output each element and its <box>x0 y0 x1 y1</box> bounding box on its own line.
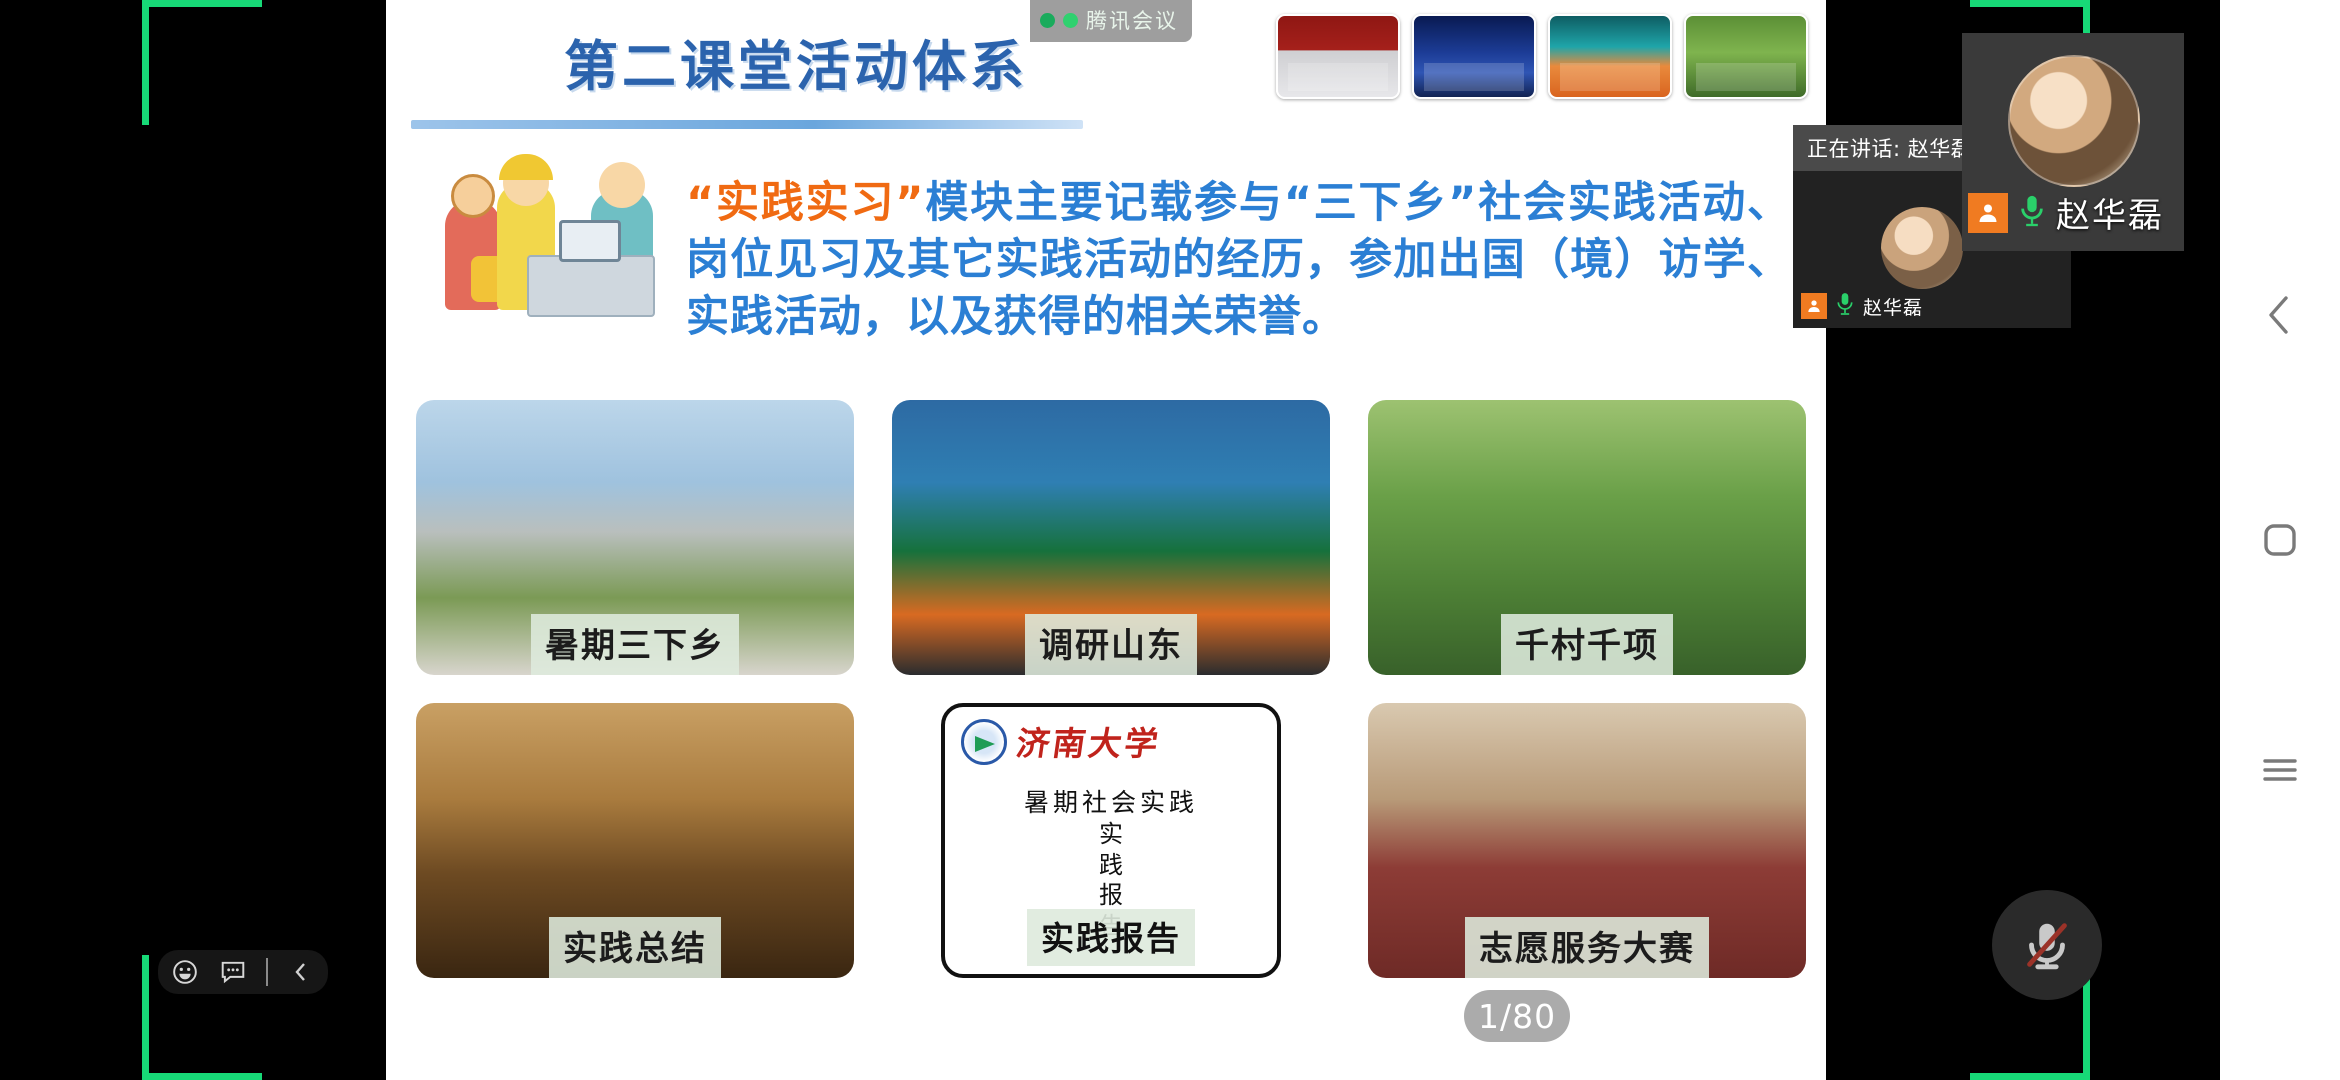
photo-cell-volunteer-contest: 志愿服务大赛 <box>1368 703 1806 978</box>
shared-screen-stage: 第二课堂活动体系 “实践实习”模块主要记载参与“三下乡”社会 <box>386 0 1826 1080</box>
illustration-head-left <box>451 174 495 218</box>
photo-caption: 志愿服务大赛 <box>1465 917 1709 978</box>
microphone-muted-icon <box>2016 914 2078 976</box>
photo-caption: 调研山东 <box>1025 614 1197 675</box>
photo-caption: 实践报告 <box>1027 909 1195 966</box>
students-illustration <box>441 160 671 330</box>
document-university-name: 济南大学 <box>1014 717 1165 765</box>
slide-thumbnail-ceremony <box>1412 14 1536 99</box>
slide-thumbnail-field <box>1684 14 1808 99</box>
illustration-hair-middle <box>499 154 553 180</box>
photo-cell-thousand-villages: 千村千项 <box>1368 400 1806 675</box>
photo-grid-row-2: 实践总结 济南大学 暑期社会实践 实践报告 实践报告 志愿服务大 <box>416 703 1806 978</box>
self-name-label: 赵华磊 <box>2056 188 2164 237</box>
microphone-mute-button[interactable] <box>1992 890 2102 1000</box>
practice-report-document: 济南大学 暑期社会实践 实践报告 实践报告 <box>941 703 1281 978</box>
app-name-chip: 腾讯会议 <box>1030 0 1192 42</box>
microphone-active-icon <box>1835 292 1855 320</box>
photo-cell-summer-program: 暑期三下乡 <box>416 400 854 675</box>
bottom-left-toolbar[interactable] <box>158 950 328 994</box>
illustration-head-right <box>599 162 645 208</box>
screen-root: 第二课堂活动体系 “实践实习”模块主要记载参与“三下乡”社会 <box>0 0 2340 1080</box>
photo-cell-practice-summary: 实践总结 <box>416 703 854 978</box>
photo-caption: 实践总结 <box>549 917 721 978</box>
participant-status-row: 赵华磊 <box>1801 292 1923 320</box>
page-indicator: 1/80 <box>1464 990 1570 1042</box>
microphone-active-icon <box>2018 194 2046 232</box>
person-badge-icon <box>1968 193 2008 233</box>
participant-name-label: 赵华磊 <box>1863 293 1923 320</box>
document-subtitle: 暑期社会实践 <box>945 783 1277 819</box>
emoji-icon[interactable] <box>170 957 200 987</box>
slide-thumbnail-strip <box>1276 14 1808 99</box>
photo-cell-practice-report: 济南大学 暑期社会实践 实践报告 实践报告 <box>892 703 1330 978</box>
chat-icon[interactable] <box>218 957 248 987</box>
participant-avatar <box>1881 207 1963 289</box>
person-badge-icon <box>1801 293 1827 319</box>
menu-icon[interactable] <box>2220 725 2340 815</box>
presentation-slide: 第二课堂活动体系 “实践实习”模块主要记载参与“三下乡”社会 <box>386 0 1826 1060</box>
app-name-label: 腾讯会议 <box>1086 5 1178 35</box>
slide-thumbnail-conference <box>1276 14 1400 99</box>
chevron-left-icon[interactable] <box>286 957 316 987</box>
slide-body-highlight: “实践实习” <box>686 178 925 228</box>
self-status-row: 赵华磊 <box>1968 188 2164 237</box>
photo-cell-shandong-survey: 调研山东 <box>892 400 1330 675</box>
app-logo-dot-right <box>1063 13 1078 28</box>
photo-caption: 千村千项 <box>1501 614 1673 675</box>
illustration-desk <box>527 255 655 317</box>
photo-caption: 暑期三下乡 <box>531 614 739 675</box>
home-square-icon[interactable] <box>2220 495 2340 585</box>
slide-body-text: “实践实习”模块主要记载参与“三下乡”社会实践活动、岗位见习及其它实践活动的经历… <box>686 175 1791 345</box>
screen-share-corner-top-left <box>142 0 262 125</box>
self-view-tile[interactable]: 赵华磊 <box>1962 33 2184 251</box>
app-logo-dot-left <box>1040 13 1055 28</box>
title-underline <box>411 120 1083 129</box>
back-icon[interactable] <box>2220 270 2340 360</box>
photo-grid-row-1: 暑期三下乡 调研山东 千村千项 <box>416 400 1806 675</box>
toolbar-divider <box>266 958 268 986</box>
slide-thumbnail-performance <box>1548 14 1672 99</box>
photo-grid: 暑期三下乡 调研山东 千村千项 实践总结 <box>416 400 1806 1006</box>
university-logo-icon <box>961 719 1007 765</box>
illustration-monitor <box>559 220 621 262</box>
android-navigation-bar <box>2220 0 2340 1080</box>
self-avatar <box>2008 55 2140 187</box>
